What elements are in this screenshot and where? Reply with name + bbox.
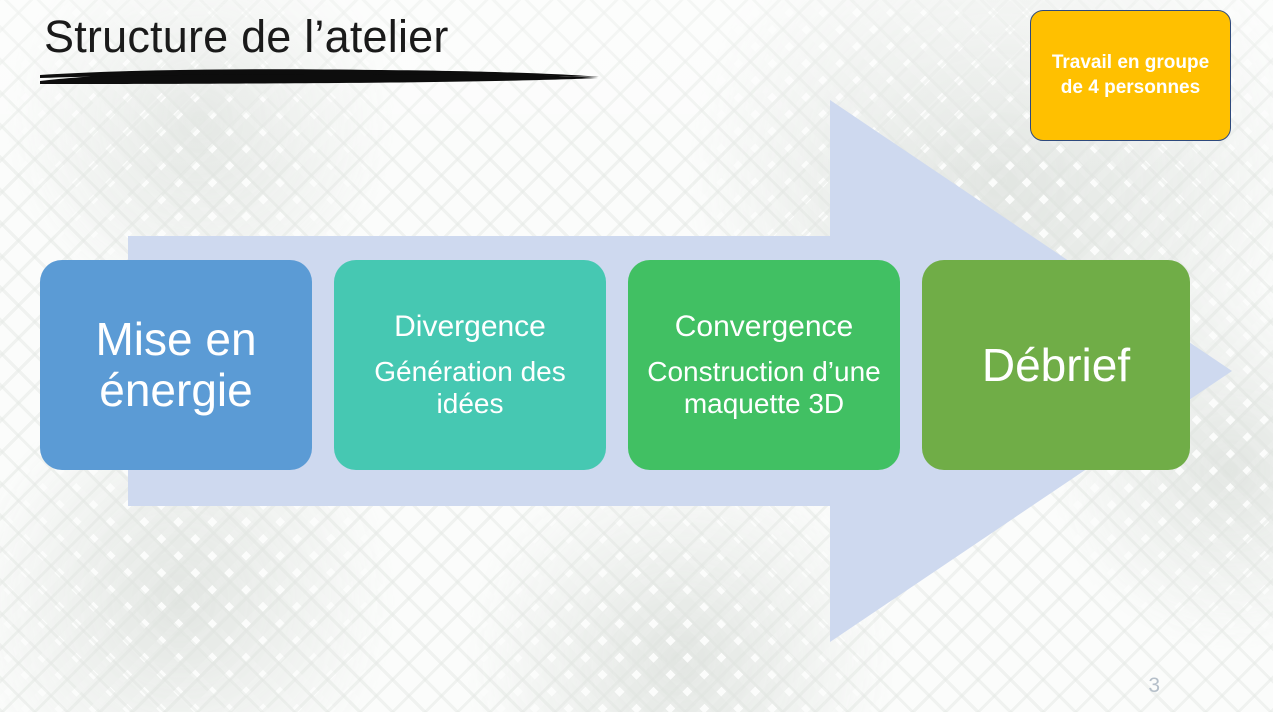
travail-en-groupe-badge-label: Travail en groupe de 4 personnes — [1031, 51, 1230, 100]
process-step-divergence-description: Génération des idées — [344, 356, 596, 420]
process-step-mise-en-energie-title: Mise en énergie — [50, 314, 302, 415]
slide-canvas: Structure de l’atelier Travail en groupe… — [0, 0, 1273, 712]
process-step-divergence[interactable]: Divergence Génération des idées — [334, 260, 606, 470]
process-step-divergence-title: Divergence — [394, 310, 546, 344]
title-underline-brushstroke — [38, 62, 600, 90]
slide-number: 3 — [1148, 674, 1160, 698]
page-title: Structure de l’atelier — [44, 13, 449, 60]
process-step-mise-en-energie[interactable]: Mise en énergie — [40, 260, 312, 470]
process-step-convergence[interactable]: Convergence Construction d’une maquette … — [628, 260, 900, 470]
process-step-debrief[interactable]: Débrief — [922, 260, 1190, 470]
process-step-debrief-title: Débrief — [982, 340, 1130, 391]
process-step-convergence-title: Convergence — [675, 310, 853, 344]
travail-en-groupe-badge[interactable]: Travail en groupe de 4 personnes — [1030, 10, 1231, 141]
process-step-convergence-description: Construction d’une maquette 3D — [638, 356, 890, 420]
